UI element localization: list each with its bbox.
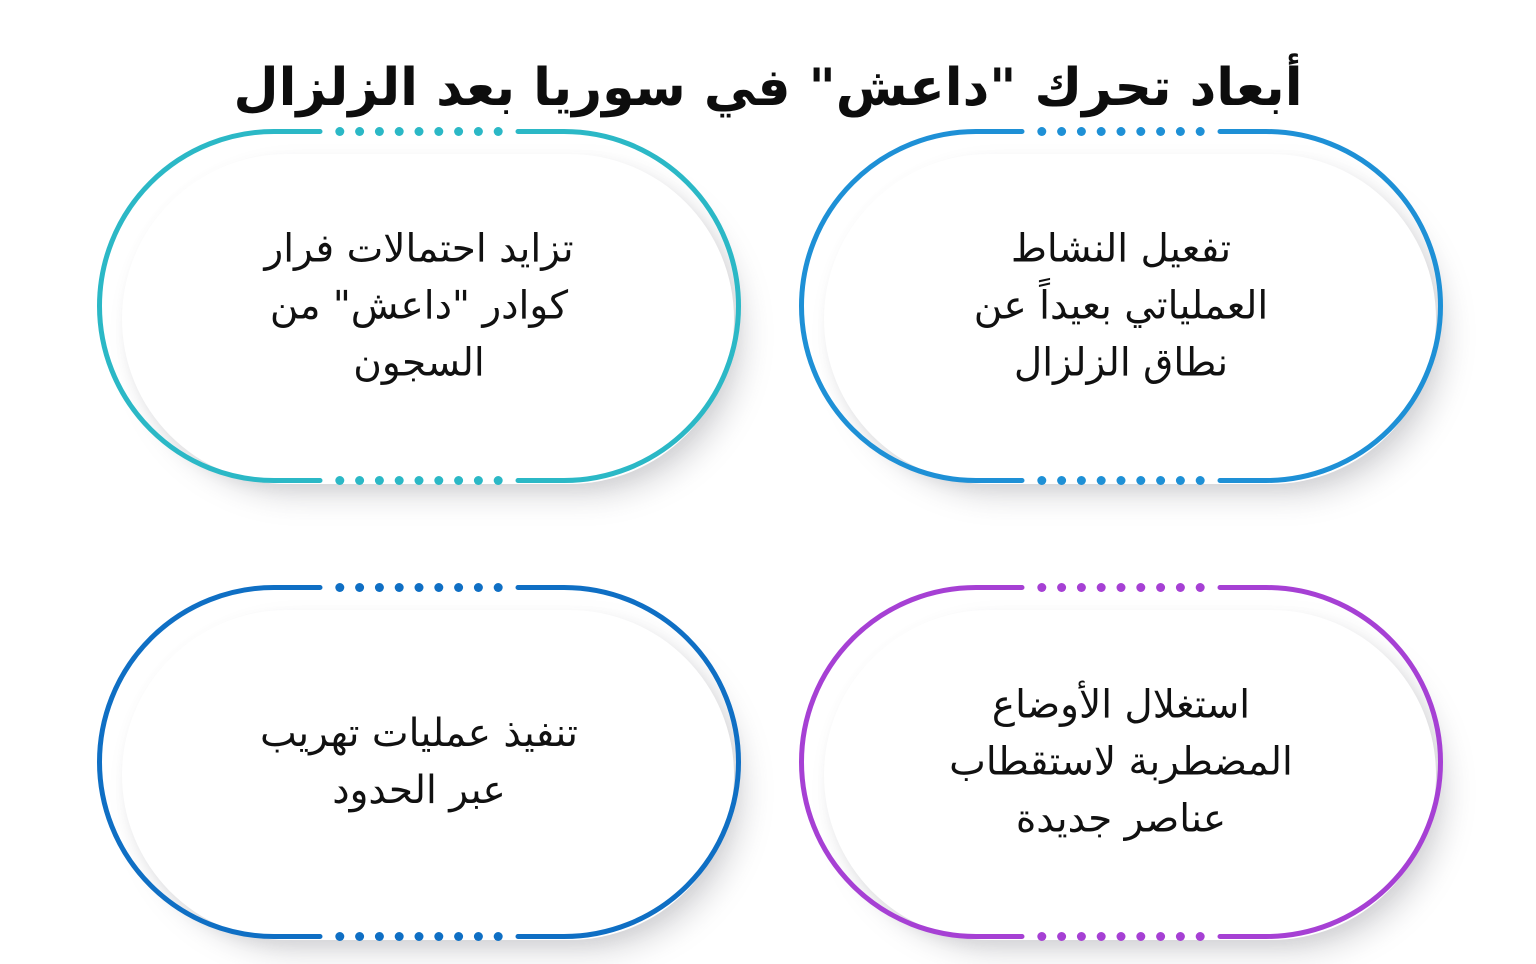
card-outline-dot-top <box>1037 583 1046 592</box>
card-outline-dot-top <box>1156 127 1165 136</box>
card-outline-dot-top <box>1057 583 1066 592</box>
card-escape-prisons[interactable]: تزايد احتمالات فرار كوادر "داعش" من السج… <box>96 128 742 484</box>
card-outline-dot-top <box>474 127 483 136</box>
card-outline-dot-top <box>454 127 463 136</box>
card-outline-dot-top <box>1196 127 1205 136</box>
card-outline-dot-top <box>1097 127 1106 136</box>
card-outline-dot-top <box>335 583 344 592</box>
page-title: أبعاد تحرك "داعش" في سوريا بعد الزلزال <box>0 49 1536 127</box>
card-outline-dot-top <box>1156 583 1165 592</box>
card-label: تفعيل النشاط العملياتي بعيداً عن نطاق ال… <box>868 221 1374 392</box>
card-outline-dot-top <box>395 127 404 136</box>
card-outline-dot-top <box>415 127 424 136</box>
card-outline-dot-top <box>494 127 503 136</box>
infographic-root: أبعاد تحرك "داعش" في سوريا بعد الزلزال ت… <box>0 0 1536 964</box>
card-outline-dot-top <box>454 583 463 592</box>
card-activate-operations[interactable]: تفعيل النشاط العملياتي بعيداً عن نطاق ال… <box>798 128 1444 484</box>
card-outline-dot-top <box>1117 583 1126 592</box>
card-outline-dot-top <box>375 583 384 592</box>
card-outline-dot-top <box>335 127 344 136</box>
card-outline-dot-top <box>1176 583 1185 592</box>
card-outline-dot-top <box>434 583 443 592</box>
card-outline-dot-top <box>1136 127 1145 136</box>
card-outline-dot-top <box>1136 583 1145 592</box>
card-outline-dot-top <box>1057 127 1066 136</box>
card-outline-dot-top <box>474 583 483 592</box>
card-outline-dot-top <box>415 583 424 592</box>
card-outline-dot-top <box>1097 583 1106 592</box>
card-outline-dot-top <box>1037 127 1046 136</box>
card-outline-dot-top <box>1196 583 1205 592</box>
card-outline-dot-top <box>1176 127 1185 136</box>
card-outline-dot-top <box>434 127 443 136</box>
card-outline-dot-top <box>355 127 364 136</box>
card-outline-dot-top <box>1077 127 1086 136</box>
card-label: استغلال الأوضاع المضطربة لاستقطاب عناصر … <box>868 677 1374 848</box>
card-smuggling[interactable]: تنفيذ عمليات تهريب عبر الحدود <box>96 584 742 940</box>
card-outline-dot-top <box>494 583 503 592</box>
card-outline-dot-top <box>375 127 384 136</box>
card-label: تزايد احتمالات فرار كوادر "داعش" من السج… <box>166 221 672 392</box>
card-outline-dot-top <box>1117 127 1126 136</box>
card-outline-dot-top <box>1077 583 1086 592</box>
card-outline-dot-top <box>395 583 404 592</box>
card-recruit-new[interactable]: استغلال الأوضاع المضطربة لاستقطاب عناصر … <box>798 584 1444 940</box>
card-label: تنفيذ عمليات تهريب عبر الحدود <box>166 705 672 819</box>
cards-grid: تفعيل النشاط العملياتي بعيداً عن نطاق ال… <box>96 128 1444 940</box>
card-outline-dot-top <box>355 583 364 592</box>
